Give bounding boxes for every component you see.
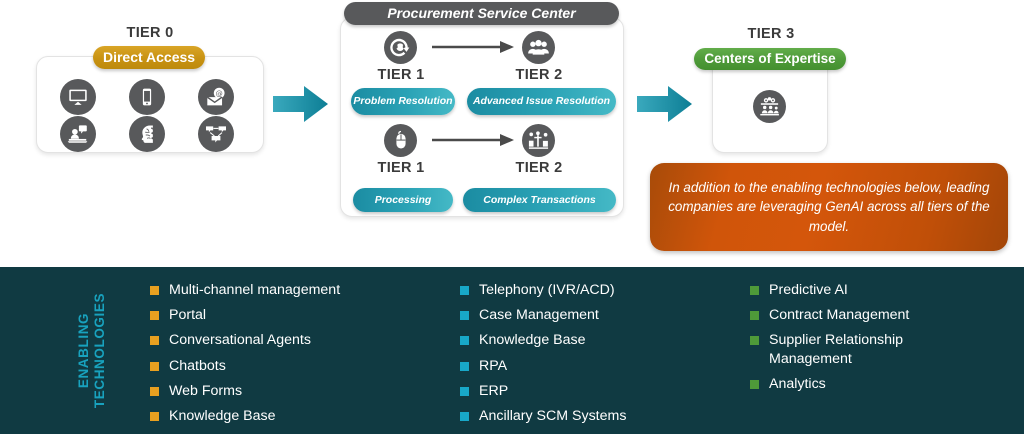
list-item[interactable]: Conversational Agents — [150, 331, 450, 349]
headset-support-icon — [384, 31, 417, 64]
pill-problem-resolution[interactable]: Problem Resolution — [351, 88, 455, 115]
bullet-square-icon — [460, 387, 469, 396]
mobile-phone-icon — [129, 79, 165, 115]
tech-label: Multi-channel management — [169, 281, 340, 299]
tech-column-2: Telephony (IVR/ACD) Case Management Know… — [460, 281, 730, 432]
tech-label: Knowledge Base — [479, 331, 585, 349]
desktop-monitor-icon — [60, 79, 96, 115]
bullet-square-icon — [150, 387, 159, 396]
tier1-to-tier2-arrow-row1 — [432, 40, 516, 59]
list-item[interactable]: Predictive AI — [750, 281, 1010, 299]
tech-label: Contract Management — [769, 306, 909, 324]
tier2-heading-row1: TIER 2 — [493, 67, 585, 83]
tier1-to-tier2-arrow-row2 — [432, 133, 516, 152]
tech-label: Analytics — [769, 375, 826, 393]
list-item[interactable]: Contract Management — [750, 306, 1010, 324]
team-collaboration-icon — [522, 124, 555, 157]
list-item[interactable]: Chatbots — [150, 357, 450, 375]
tech-label: RPA — [479, 357, 507, 375]
list-item[interactable]: Portal — [150, 306, 450, 324]
bullet-square-icon — [460, 286, 469, 295]
bullet-square-icon — [460, 362, 469, 371]
list-item[interactable]: Ancillary SCM Systems — [460, 407, 730, 425]
bullet-square-icon — [460, 311, 469, 320]
bullet-square-icon — [750, 286, 759, 295]
enabling-technologies-band: ENABLING TECHNOLOGIES Multi-channel mana… — [0, 267, 1024, 434]
bullet-square-icon — [750, 311, 759, 320]
tech-label: Knowledge Base — [169, 407, 275, 425]
bullet-square-icon — [460, 336, 469, 345]
list-item[interactable]: Analytics — [750, 375, 1010, 393]
service-center-header-pill: Procurement Service Center — [344, 2, 619, 25]
flow-arrow-center-to-tier3 — [636, 84, 694, 129]
enabling-technologies-label-line2: TECHNOLOGIES — [92, 293, 108, 408]
pill-processing[interactable]: Processing — [353, 188, 453, 212]
bullet-square-icon — [150, 336, 159, 345]
list-item[interactable]: ERP — [460, 382, 730, 400]
computer-mouse-icon — [384, 124, 417, 157]
bullet-square-icon — [150, 311, 159, 320]
tech-label: Ancillary SCM Systems — [479, 407, 626, 425]
genai-callout: In addition to the enabling technologies… — [650, 163, 1008, 251]
list-item[interactable]: Multi-channel management — [150, 281, 450, 299]
bullet-square-icon — [150, 362, 159, 371]
tech-column-3: Predictive AI Contract Management Suppli… — [750, 281, 1010, 400]
tech-label: ERP — [479, 382, 508, 400]
list-item[interactable]: RPA — [460, 357, 730, 375]
tier0-heading: TIER 0 — [95, 25, 205, 41]
chat-network-icon — [198, 116, 234, 152]
list-item[interactable]: Telephony (IVR/ACD) — [460, 281, 730, 299]
tier3-pill-centers-of-expertise[interactable]: Centers of Expertise — [694, 48, 846, 70]
bullet-square-icon — [150, 286, 159, 295]
tech-label: Telephony (IVR/ACD) — [479, 281, 615, 299]
tech-label: Predictive AI — [769, 281, 848, 299]
list-item[interactable]: Web Forms — [150, 382, 450, 400]
ai-head-icon — [129, 116, 165, 152]
tier1-heading-row1: TIER 1 — [355, 67, 447, 83]
slide-canvas: TIER 0 Direct Access @ — [0, 0, 1024, 434]
flow-arrow-tier0-to-center — [272, 84, 330, 129]
tech-label: Supplier Relationship Management — [769, 331, 939, 367]
expertise-gears-people-icon — [753, 90, 786, 123]
list-item[interactable]: Supplier Relationship Management — [750, 331, 1010, 367]
list-item[interactable]: Knowledge Base — [460, 331, 730, 349]
enabling-technologies-label-line1: ENABLING — [76, 313, 92, 388]
pill-complex-transactions[interactable]: Complex Transactions — [463, 188, 616, 212]
tier1-heading-row2: TIER 1 — [355, 160, 447, 176]
tech-label: Conversational Agents — [169, 331, 311, 349]
tech-column-1: Multi-channel management Portal Conversa… — [150, 281, 450, 432]
list-item[interactable]: Knowledge Base — [150, 407, 450, 425]
tech-label: Portal — [169, 306, 206, 324]
tech-label: Chatbots — [169, 357, 226, 375]
service-delivery-model-diagram: TIER 0 Direct Access @ — [0, 0, 1024, 267]
tech-label: Case Management — [479, 306, 599, 324]
bullet-square-icon — [750, 336, 759, 345]
tier0-pill-direct-access[interactable]: Direct Access — [93, 46, 205, 69]
tech-label: Web Forms — [169, 382, 242, 400]
virtual-agent-laptop-icon — [60, 116, 96, 152]
pill-advanced-issue-resolution[interactable]: Advanced Issue Resolution — [467, 88, 616, 115]
bullet-square-icon — [750, 380, 759, 389]
bullet-square-icon — [150, 412, 159, 421]
enabling-technologies-label: ENABLING TECHNOLOGIES — [62, 267, 122, 434]
people-group-icon — [522, 31, 555, 64]
tier2-heading-row2: TIER 2 — [493, 160, 585, 176]
tier3-heading: TIER 3 — [716, 26, 826, 42]
email-envelope-icon: @ — [198, 79, 234, 115]
list-item[interactable]: Case Management — [460, 306, 730, 324]
bullet-square-icon — [460, 412, 469, 421]
